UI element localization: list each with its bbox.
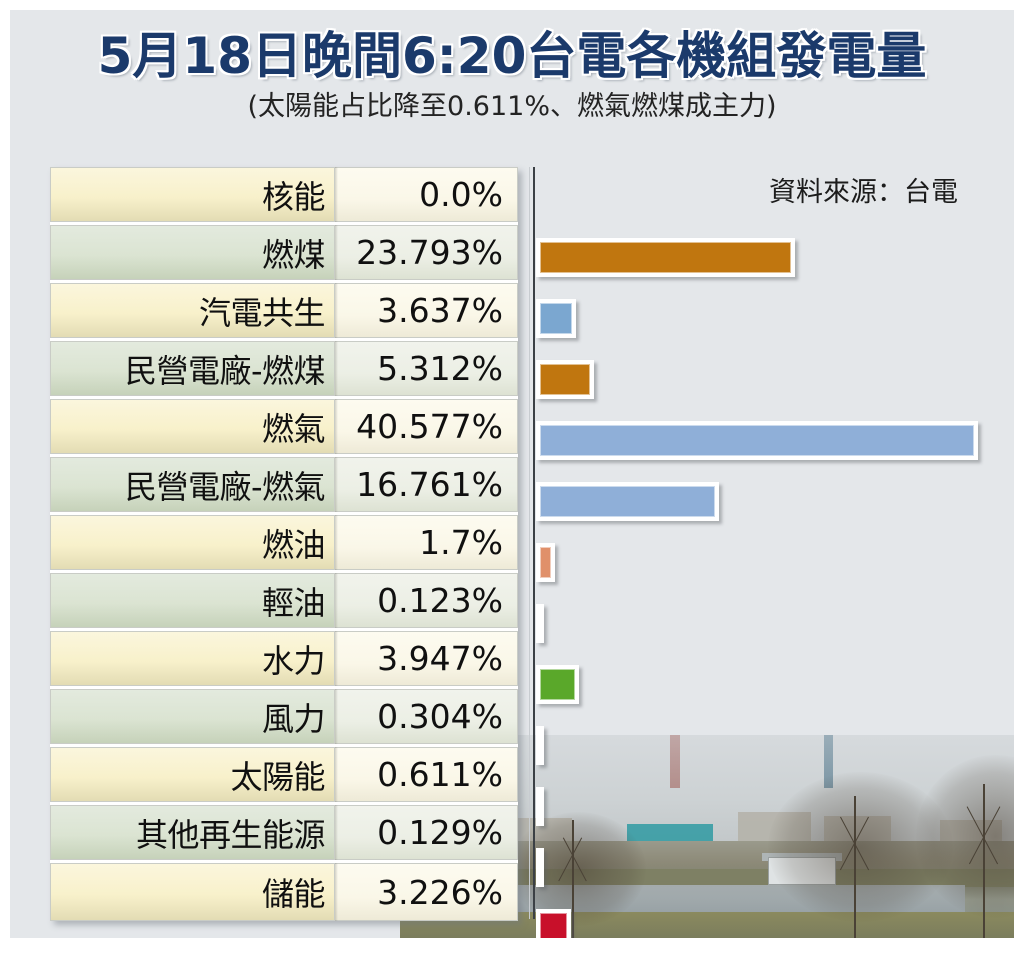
row-label: 儲能: [50, 863, 335, 921]
bar-inner-highlight: [540, 303, 572, 334]
row-value: 16.761%: [335, 457, 518, 512]
row-label: 其他再生能源: [50, 805, 335, 860]
bar-inner-highlight: [540, 486, 715, 517]
table-row: 燃油1.7%: [50, 515, 518, 573]
row-label: 燃氣: [50, 399, 335, 454]
row-label: 燃煤: [50, 225, 335, 280]
bar-row: [536, 777, 544, 835]
row-value: 3.637%: [335, 283, 518, 338]
row-value: 23.793%: [335, 225, 518, 280]
bar-燃油: [536, 543, 555, 582]
row-label: 水力: [50, 631, 335, 686]
table-row: 儲能3.226%: [50, 863, 518, 921]
bar-row: [536, 472, 719, 530]
bar-inner-highlight: [540, 608, 542, 639]
row-label: 輕油: [50, 573, 335, 628]
bar-民營電廠-燃氣: [536, 482, 719, 521]
bar-燃氣: [536, 421, 978, 460]
page-title: 5月18日晚間6:20台電各機組發電量: [0, 30, 1024, 83]
bar-風力: [536, 726, 544, 765]
table-row: 核能0.0%: [50, 167, 518, 225]
page-subtitle: (太陽能占比降至0.611%、燃氣燃煤成主力): [0, 92, 1024, 122]
row-value: 0.611%: [335, 747, 518, 802]
bar-row: [536, 533, 555, 591]
row-label: 民營電廠-燃氣: [50, 457, 335, 512]
row-value: 3.226%: [335, 863, 518, 921]
row-label: 燃油: [50, 515, 335, 570]
bar-inner-highlight: [540, 242, 791, 273]
table-row: 民營電廠-燃氣16.761%: [50, 457, 518, 515]
row-label: 太陽能: [50, 747, 335, 802]
row-value: 40.577%: [335, 399, 518, 454]
bar-row: [536, 594, 544, 652]
bar-row: [536, 411, 978, 469]
row-label: 民營電廠-燃煤: [50, 341, 335, 396]
bar-汽電共生: [536, 299, 576, 338]
chart-axis: [533, 167, 535, 919]
table-row: 輕油0.123%: [50, 573, 518, 631]
row-value: 5.312%: [335, 341, 518, 396]
row-label: 核能: [50, 167, 335, 222]
bar-inner-highlight: [540, 852, 542, 883]
bar-inner-highlight: [540, 791, 542, 822]
table-row: 汽電共生3.637%: [50, 283, 518, 341]
table-row: 其他再生能源0.129%: [50, 805, 518, 863]
bar-水力: [536, 665, 579, 704]
row-label: 風力: [50, 689, 335, 744]
bar-燃煤: [536, 238, 795, 277]
frame-edge-left: [0, 0, 10, 957]
energy-table: 核能0.0%燃煤23.793%汽電共生3.637%民營電廠-燃煤5.312%燃氣…: [50, 167, 518, 921]
frame-edge-top: [0, 0, 1024, 10]
bar-民營電廠-燃煤: [536, 360, 594, 399]
frame-edge-bottom: [0, 938, 1024, 957]
table-row: 民營電廠-燃煤5.312%: [50, 341, 518, 399]
chart-axis-guide: [529, 167, 530, 919]
table-row: 燃煤23.793%: [50, 225, 518, 283]
bar-row: [536, 716, 544, 774]
row-value: 0.123%: [335, 573, 518, 628]
bar-row: [536, 838, 544, 896]
infographic-canvas: 5月18日晚間6:20台電各機組發電量 (太陽能占比降至0.611%、燃氣燃煤成…: [0, 0, 1024, 957]
table-row: 風力0.304%: [50, 689, 518, 747]
title-block: 5月18日晚間6:20台電各機組發電量 (太陽能占比降至0.611%、燃氣燃煤成…: [0, 30, 1024, 122]
row-value: 0.129%: [335, 805, 518, 860]
bar-輕油: [536, 604, 544, 643]
row-label: 汽電共生: [50, 283, 335, 338]
source-note: 資料來源：台電: [769, 170, 958, 209]
bar-chart: [520, 167, 1020, 919]
bar-inner-highlight: [540, 547, 551, 578]
table-row: 水力3.947%: [50, 631, 518, 689]
table-row: 燃氣40.577%: [50, 399, 518, 457]
bar-太陽能: [536, 787, 544, 826]
bar-row: [536, 655, 579, 713]
bar-row: [536, 350, 594, 408]
row-value: 0.304%: [335, 689, 518, 744]
bar-inner-highlight: [540, 364, 590, 395]
row-value: 0.0%: [335, 167, 518, 222]
bar-inner-highlight: [540, 730, 542, 761]
bar-row: [536, 228, 795, 286]
bar-其他再生能源: [536, 848, 544, 887]
bar-inner-highlight: [540, 425, 974, 456]
bar-inner-highlight: [540, 669, 575, 700]
table-row: 太陽能0.611%: [50, 747, 518, 805]
frame-edge-right: [1014, 0, 1024, 957]
row-value: 1.7%: [335, 515, 518, 570]
row-value: 3.947%: [335, 631, 518, 686]
bar-row: [536, 289, 576, 347]
